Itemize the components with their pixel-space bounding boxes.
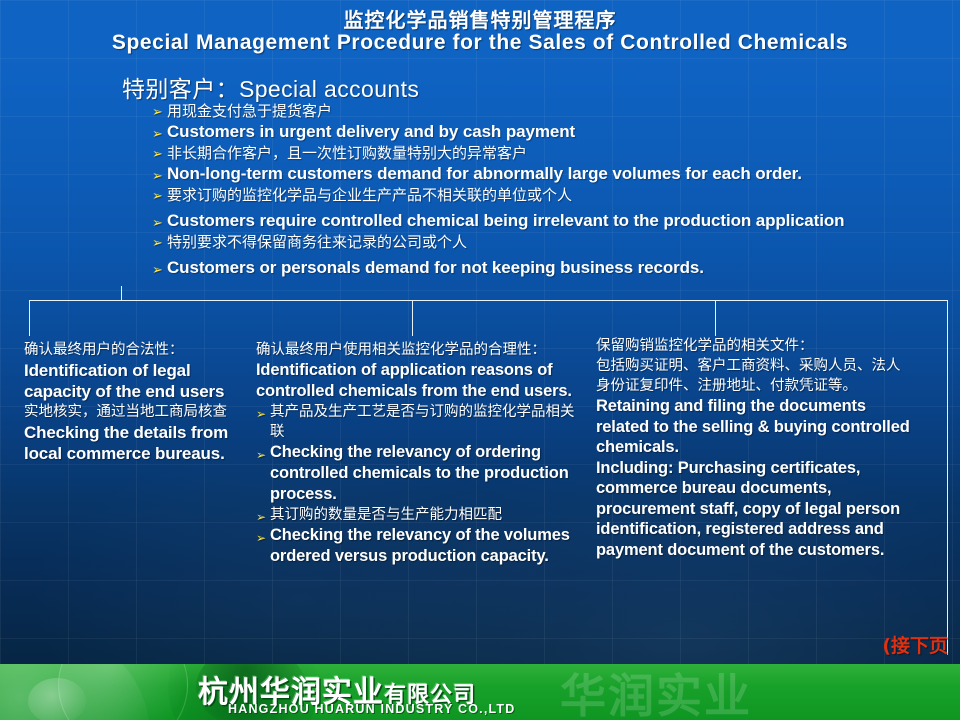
footer-logo-bar: 华润实业 杭州华润实业有限公司 HANGZHOU HUARUN INDUSTRY…: [0, 664, 960, 720]
column-heading-chinese: 确认最终用户使用相关监控化学品的合理性：: [256, 340, 586, 360]
column-retaining-documents: 保留购销监控化学品的相关文件： 包括购买证明、客户工商资料、采购人员、法人身份证…: [596, 336, 914, 560]
list-item: ➢Customers in urgent delivery and by cas…: [152, 121, 958, 143]
arrow-bullet-icon: ➢: [256, 507, 266, 527]
list-item: ➢Checking the relevancy of the volumes o…: [256, 525, 586, 567]
list-item-label: 特别要求不得保留商务往来记录的公司或个人: [167, 233, 467, 251]
list-item-label: 要求订购的监控化学品与企业生产产品不相关联的单位或个人: [167, 186, 572, 204]
connector-branch-middle: [412, 300, 413, 336]
connector-stem-vertical: [121, 286, 122, 301]
column-heading-english: Identification of application reasons of…: [256, 360, 586, 402]
column-detail-chinese: 包括购买证明、客户工商资料、采购人员、法人身份证复印件、注册地址、付款凭证等。: [596, 356, 914, 396]
list-item-label: 其订购的数量是否与生产能力相匹配: [270, 507, 502, 523]
connector-branch-right: [715, 300, 716, 336]
column-detail-english: Including: Purchasing certificates, comm…: [596, 458, 914, 561]
list-item: ➢用现金支付急于提货客户: [152, 101, 958, 121]
slide-canvas: 监控化学品销售特别管理程序 Special Management Procedu…: [0, 0, 960, 720]
list-item: ➢要求订购的监控化学品与企业生产产品不相关联的单位或个人: [152, 185, 958, 205]
decorative-bubble-icon: [28, 678, 86, 720]
special-accounts-bullet-list: ➢用现金支付急于提货客户 ➢Customers in urgent delive…: [152, 101, 958, 279]
list-item-label: Checking the relevancy of the volumes or…: [270, 526, 570, 565]
list-item: ➢其产品及生产工艺是否与订购的监控化学品相关联: [256, 402, 586, 442]
section-heading-english: Special accounts: [239, 76, 419, 102]
connector-frame-right-edge: [947, 300, 948, 655]
column-legal-capacity: 确认最终用户的合法性： Identification of legal capa…: [24, 340, 242, 464]
list-item-label: 其产品及生产工艺是否与订购的监控化学品相关联: [270, 404, 575, 440]
list-item: ➢Checking the relevancy of ordering cont…: [256, 442, 586, 505]
continued-note: (接下页: [882, 631, 948, 658]
connector-branch-left: [29, 300, 30, 336]
column-heading-english: Identification of legal capacity of the …: [24, 360, 242, 402]
column-heading-chinese: 确认最终用户的合法性：: [24, 340, 242, 360]
column-heading-english: Retaining and filing the documents relat…: [596, 396, 914, 458]
list-item-label: Customers require controlled chemical be…: [167, 211, 844, 230]
list-item-label: Customers or personals demand for not ke…: [167, 258, 704, 277]
list-item: ➢非长期合作客户，且一次性订购数量特别大的异常客户: [152, 143, 958, 163]
list-item-label: 非长期合作客户，且一次性订购数量特别大的异常客户: [167, 144, 527, 162]
arrow-bullet-icon: ➢: [256, 528, 266, 549]
column-detail-english: Checking the details from local commerce…: [24, 422, 242, 464]
list-item: ➢Customers require controlled chemical b…: [152, 210, 958, 232]
list-item-label: Non-long-term customers demand for abnor…: [167, 164, 802, 183]
arrow-bullet-icon: ➢: [256, 445, 266, 466]
arrow-bullet-icon: ➢: [152, 103, 163, 123]
arrow-bullet-icon: ➢: [152, 145, 163, 165]
column-heading-chinese: 保留购销监控化学品的相关文件：: [596, 336, 914, 356]
section-heading-chinese: 特别客户：: [122, 77, 239, 103]
list-item-label: Checking the relevancy of ordering contr…: [270, 443, 569, 503]
section-heading: 特别客户：Special accounts: [122, 70, 419, 104]
arrow-bullet-icon: ➢: [152, 234, 163, 254]
company-name-english: HANGZHOU HUARUN INDUSTRY CO.,LTD: [228, 702, 515, 716]
column-detail-chinese: 实地核实，通过当地工商局核查: [24, 402, 242, 422]
column-application-reasons: 确认最终用户使用相关监控化学品的合理性： Identification of a…: [256, 340, 586, 567]
slide-title-english: Special Management Procedure for the Sal…: [0, 31, 960, 55]
footer-watermark-text: 华润实业: [560, 664, 960, 716]
list-item-label: Customers in urgent delivery and by cash…: [167, 122, 575, 141]
arrow-bullet-icon: ➢: [152, 260, 163, 282]
list-item: ➢Non-long-term customers demand for abno…: [152, 163, 958, 185]
list-item: ➢Customers or personals demand for not k…: [152, 257, 958, 279]
list-item: ➢特别要求不得保留商务往来记录的公司或个人: [152, 232, 958, 252]
slide-title-chinese: 监控化学品销售特别管理程序: [0, 4, 960, 33]
list-item-label: 用现金支付急于提货客户: [167, 102, 332, 120]
connector-horizontal-bus: [29, 300, 948, 301]
arrow-bullet-icon: ➢: [256, 404, 266, 424]
list-item: ➢其订购的数量是否与生产能力相匹配: [256, 505, 586, 525]
arrow-bullet-icon: ➢: [152, 187, 163, 207]
